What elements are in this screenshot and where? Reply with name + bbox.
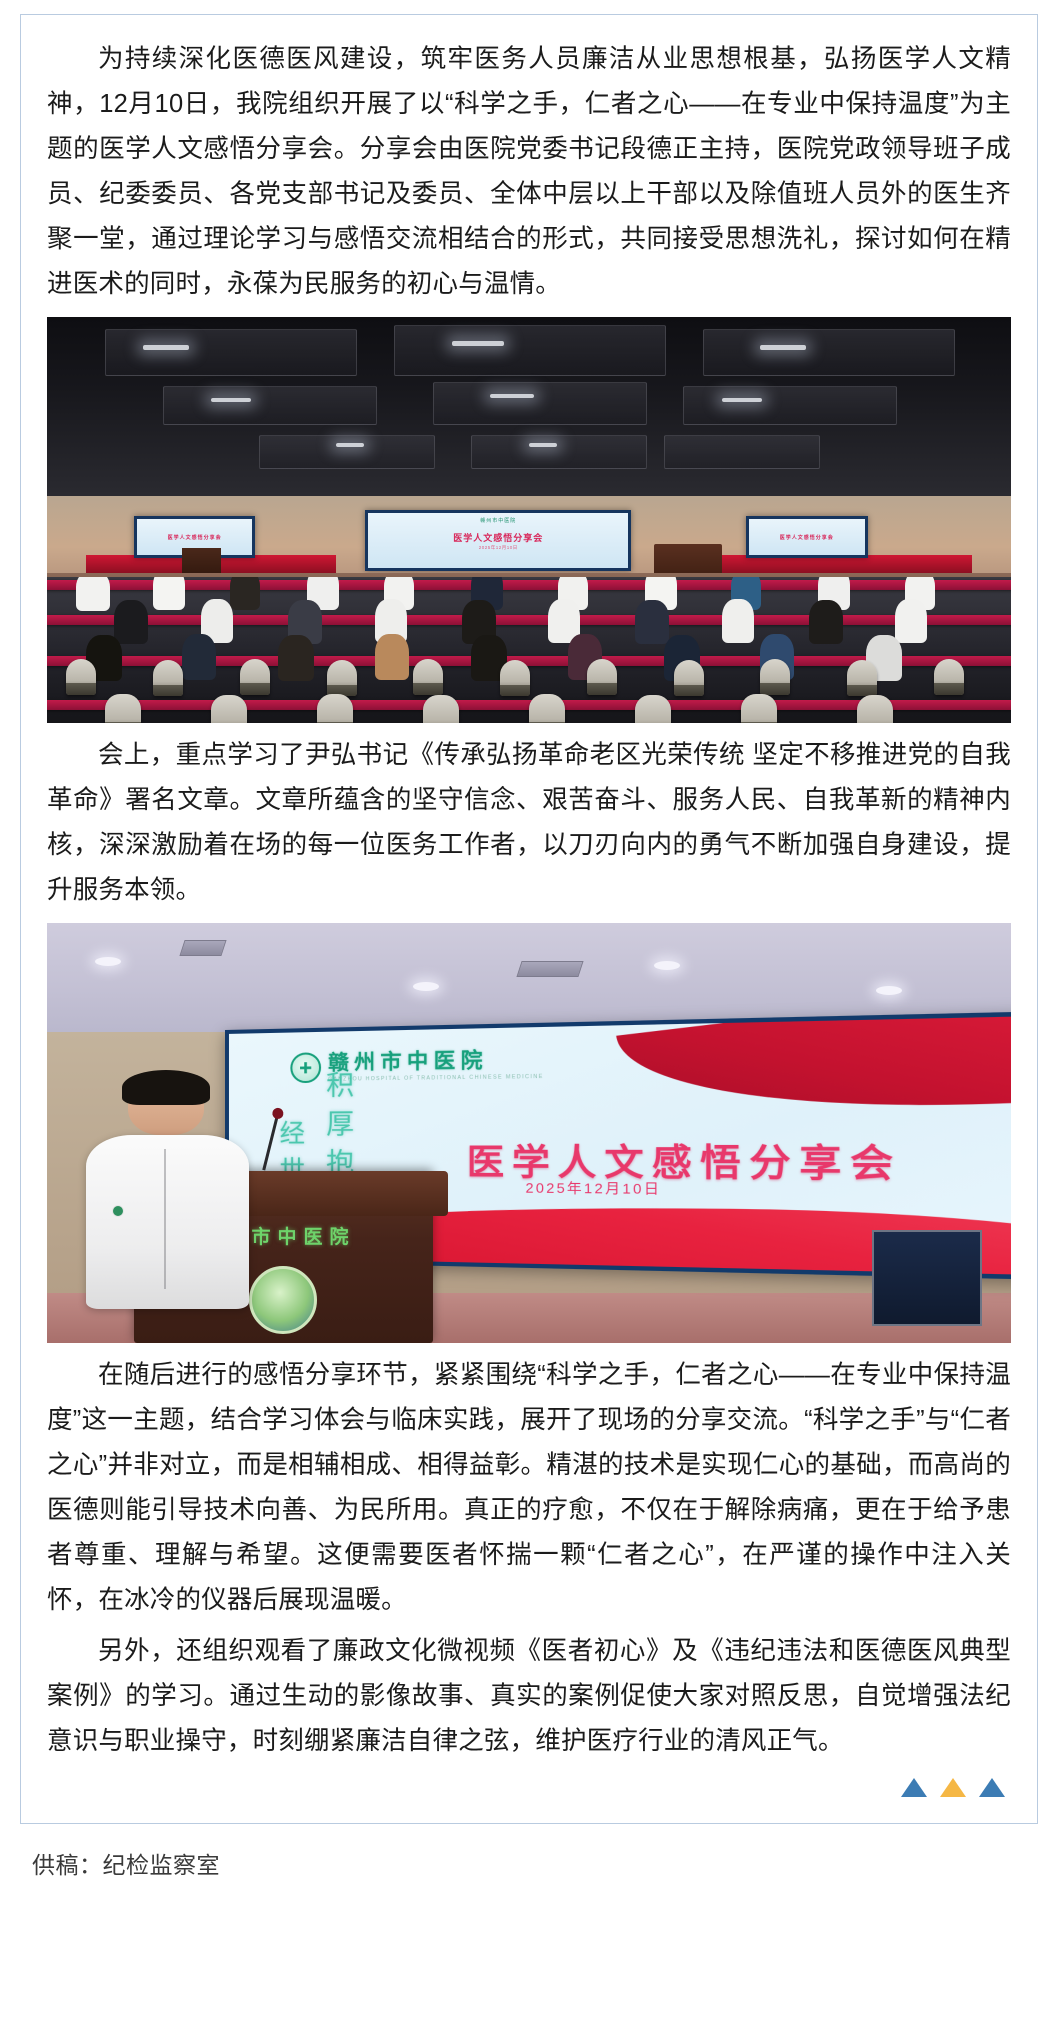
ceiling-panel	[471, 435, 647, 469]
ceiling-light	[722, 398, 762, 402]
ceiling-panel	[664, 435, 820, 469]
main-projection-screen: 赣州市中医院 医学人文感悟分享会 2025年12月10日	[365, 510, 631, 571]
podium-emblem-icon	[249, 1266, 317, 1334]
paragraph-4: 另外，还组织观看了廉政文化微视频《医者初心》及《违纪违法和医德医风典型案例》的学…	[47, 1629, 1011, 1764]
chair	[211, 695, 247, 723]
triangle-blue-icon	[901, 1778, 927, 1797]
triangle-orange-icon	[940, 1778, 966, 1797]
chair	[500, 660, 530, 696]
side-screen-right-title: 医学人文感悟分享会	[749, 534, 865, 541]
chair	[857, 695, 893, 723]
triangle-blue-icon	[979, 1778, 1005, 1797]
side-screen-left-title: 医学人文感悟分享会	[137, 534, 253, 541]
paragraph-2: 会上，重点学习了尹弘书记《传承弘扬革命老区光荣传统 坚定不移推进党的自我革命》署…	[47, 733, 1011, 913]
attendee	[722, 599, 754, 643]
ceiling-light	[654, 961, 680, 970]
ceiling-panel	[394, 325, 666, 376]
chair	[635, 695, 671, 723]
contributor-footer: 供稿：纪检监察室	[32, 1846, 1058, 1880]
screen-date-text: 2025年12月10日	[368, 545, 628, 551]
ceiling-panel	[433, 382, 647, 425]
ceiling-light	[211, 398, 251, 402]
ceiling-panel	[163, 386, 377, 425]
ceiling-light	[876, 986, 902, 995]
chair	[587, 659, 617, 695]
chair	[847, 660, 877, 696]
ceiling-panel	[683, 386, 897, 425]
ceiling-light	[413, 982, 439, 991]
chair	[66, 659, 96, 695]
ceiling-panel	[259, 435, 435, 469]
ceiling-light	[336, 443, 364, 447]
ceiling-vent	[517, 961, 584, 977]
attendee	[230, 577, 260, 610]
article-card: 为持续深化医德医风建设，筑牢医务人员廉洁从业思想根基，弘扬医学人文精神，12月1…	[20, 14, 1038, 1824]
speaker-hair	[122, 1070, 210, 1105]
chair	[934, 659, 964, 695]
ceiling-light	[143, 345, 189, 350]
ceiling-light	[490, 394, 534, 398]
chair	[317, 694, 353, 723]
screen-hospital-logo-text: 赣州市中医院	[368, 517, 628, 524]
attendee	[895, 599, 927, 643]
chair	[413, 659, 443, 695]
screen-title-text: 医学人文感悟分享会	[368, 531, 628, 544]
hall-seating-area	[47, 577, 1011, 723]
speaker-figure	[86, 1074, 250, 1309]
attendee	[76, 577, 110, 611]
ceiling-light	[760, 345, 806, 350]
conference-hall-photo: 医学人文感悟分享会 赣州市中医院 医学人文感悟分享会 2025年12月10日 医…	[47, 317, 1011, 723]
table-row	[47, 615, 1011, 625]
attendee	[635, 600, 669, 644]
chair	[153, 660, 183, 696]
attendee	[182, 634, 216, 680]
chair	[674, 660, 704, 696]
attendee	[114, 600, 148, 644]
attendee	[278, 635, 314, 681]
paragraph-3: 在随后进行的感悟分享环节，紧紧围绕“科学之手，仁者之心——在专业中保持温度”这一…	[47, 1353, 1011, 1623]
chair	[529, 694, 565, 723]
ceiling-light	[95, 957, 121, 966]
slide-red-ribbon-top	[616, 1010, 1011, 1146]
chair	[327, 660, 357, 696]
speaker-badge	[112, 1205, 124, 1217]
attendee	[809, 600, 843, 644]
chair	[741, 694, 777, 723]
chair	[240, 659, 270, 695]
ceiling-vent	[179, 940, 226, 956]
ceiling-panel	[105, 329, 358, 376]
chair	[760, 659, 790, 695]
speaker-podium-photo: 赣州市中医院 GANZHOU HOSPITAL OF TRADITIONAL C…	[47, 923, 1011, 1343]
chair	[423, 695, 459, 723]
slide-date: 2025年12月10日	[526, 1177, 662, 1198]
hall-scene: 医学人文感悟分享会 赣州市中医院 医学人文感悟分享会 2025年12月10日 医…	[47, 317, 1011, 723]
side-screen-right: 医学人文感悟分享会	[746, 516, 868, 559]
room-scene: 赣州市中医院 GANZHOU HOSPITAL OF TRADITIONAL C…	[47, 923, 1011, 1343]
speaker-white-coat	[86, 1135, 250, 1309]
ceiling-light	[529, 443, 557, 447]
attendee	[153, 577, 185, 610]
paragraph-1: 为持续深化医德医风建设，筑牢医务人员廉洁从业思想根基，弘扬医学人文精神，12月1…	[47, 37, 1011, 307]
ceiling-light	[452, 341, 504, 346]
side-monitor	[872, 1230, 982, 1326]
chair	[105, 694, 141, 723]
table-row	[47, 580, 1011, 590]
attendee	[375, 634, 409, 680]
decorative-triangles	[47, 1778, 1011, 1797]
article-page: 为持续深化医德医风建设，筑牢医务人员廉洁从业思想根基，弘扬医学人文精神，12月1…	[0, 14, 1058, 2031]
ceiling-panel	[703, 329, 956, 376]
